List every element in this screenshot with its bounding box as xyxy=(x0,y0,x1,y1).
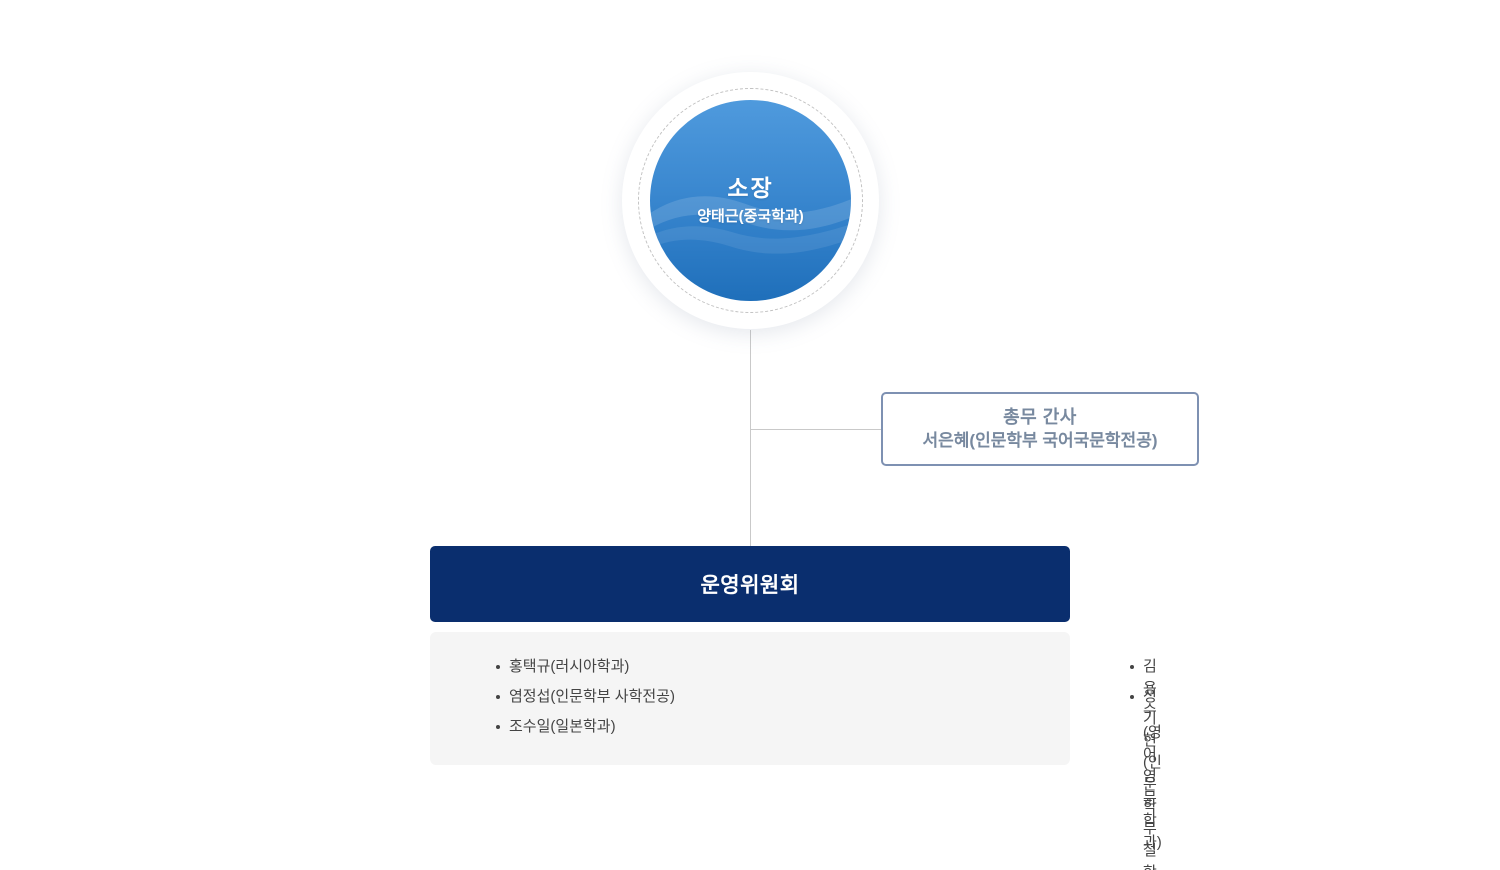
director-name: 양태근(중국학과) xyxy=(697,208,804,226)
committee-member-item: 염정섭(인문학부 사학전공) xyxy=(496,686,783,716)
secretary-name: 서은혜(인문학부 국어국문학전공) xyxy=(922,430,1157,452)
committee-member-label: 염정섭(인문학부 사학전공) xyxy=(509,686,675,708)
committee-members-panel: 홍택규(러시아학과)염정섭(인문학부 사학전공)조수일(일본학과) 김용수(영어… xyxy=(430,632,1070,765)
connector-line-horizontal xyxy=(751,429,882,430)
committee-header: 운영위원회 xyxy=(430,546,1070,622)
secretary-role: 총무 간사 xyxy=(1003,406,1077,429)
bullet-icon xyxy=(1130,695,1134,699)
director-role: 소장 xyxy=(727,175,773,203)
committee-member-label: 성기현(인문학부 철학전공) xyxy=(1143,686,1162,870)
bullet-icon xyxy=(496,725,500,729)
bullet-icon xyxy=(496,695,500,699)
director-circle: 소장 양태근(중국학과) xyxy=(650,100,851,301)
committee-column-right: 김용수(영어영문학과)성기현(인문학부 철학전공) xyxy=(780,656,1130,716)
committee-column-left: 홍택규(러시아학과)염정섭(인문학부 사학전공)조수일(일본학과) xyxy=(463,656,783,746)
bullet-icon xyxy=(1130,665,1134,669)
committee-title: 운영위원회 xyxy=(700,569,799,599)
organization-chart: 소장 양태근(중국학과) 총무 간사 서은혜(인문학부 국어국문학전공) 운영위… xyxy=(0,0,1500,870)
committee-member-label: 홍택규(러시아학과) xyxy=(509,656,629,678)
committee-member-item: 조수일(일본학과) xyxy=(496,716,783,746)
committee-member-label: 조수일(일본학과) xyxy=(509,716,616,738)
secretary-node: 총무 간사 서은혜(인문학부 국어국문학전공) xyxy=(881,392,1199,466)
committee-member-item: 홍택규(러시아학과) xyxy=(496,656,783,686)
bullet-icon xyxy=(496,665,500,669)
director-node: 소장 양태근(중국학과) xyxy=(622,72,879,329)
connector-line-vertical xyxy=(750,330,751,548)
